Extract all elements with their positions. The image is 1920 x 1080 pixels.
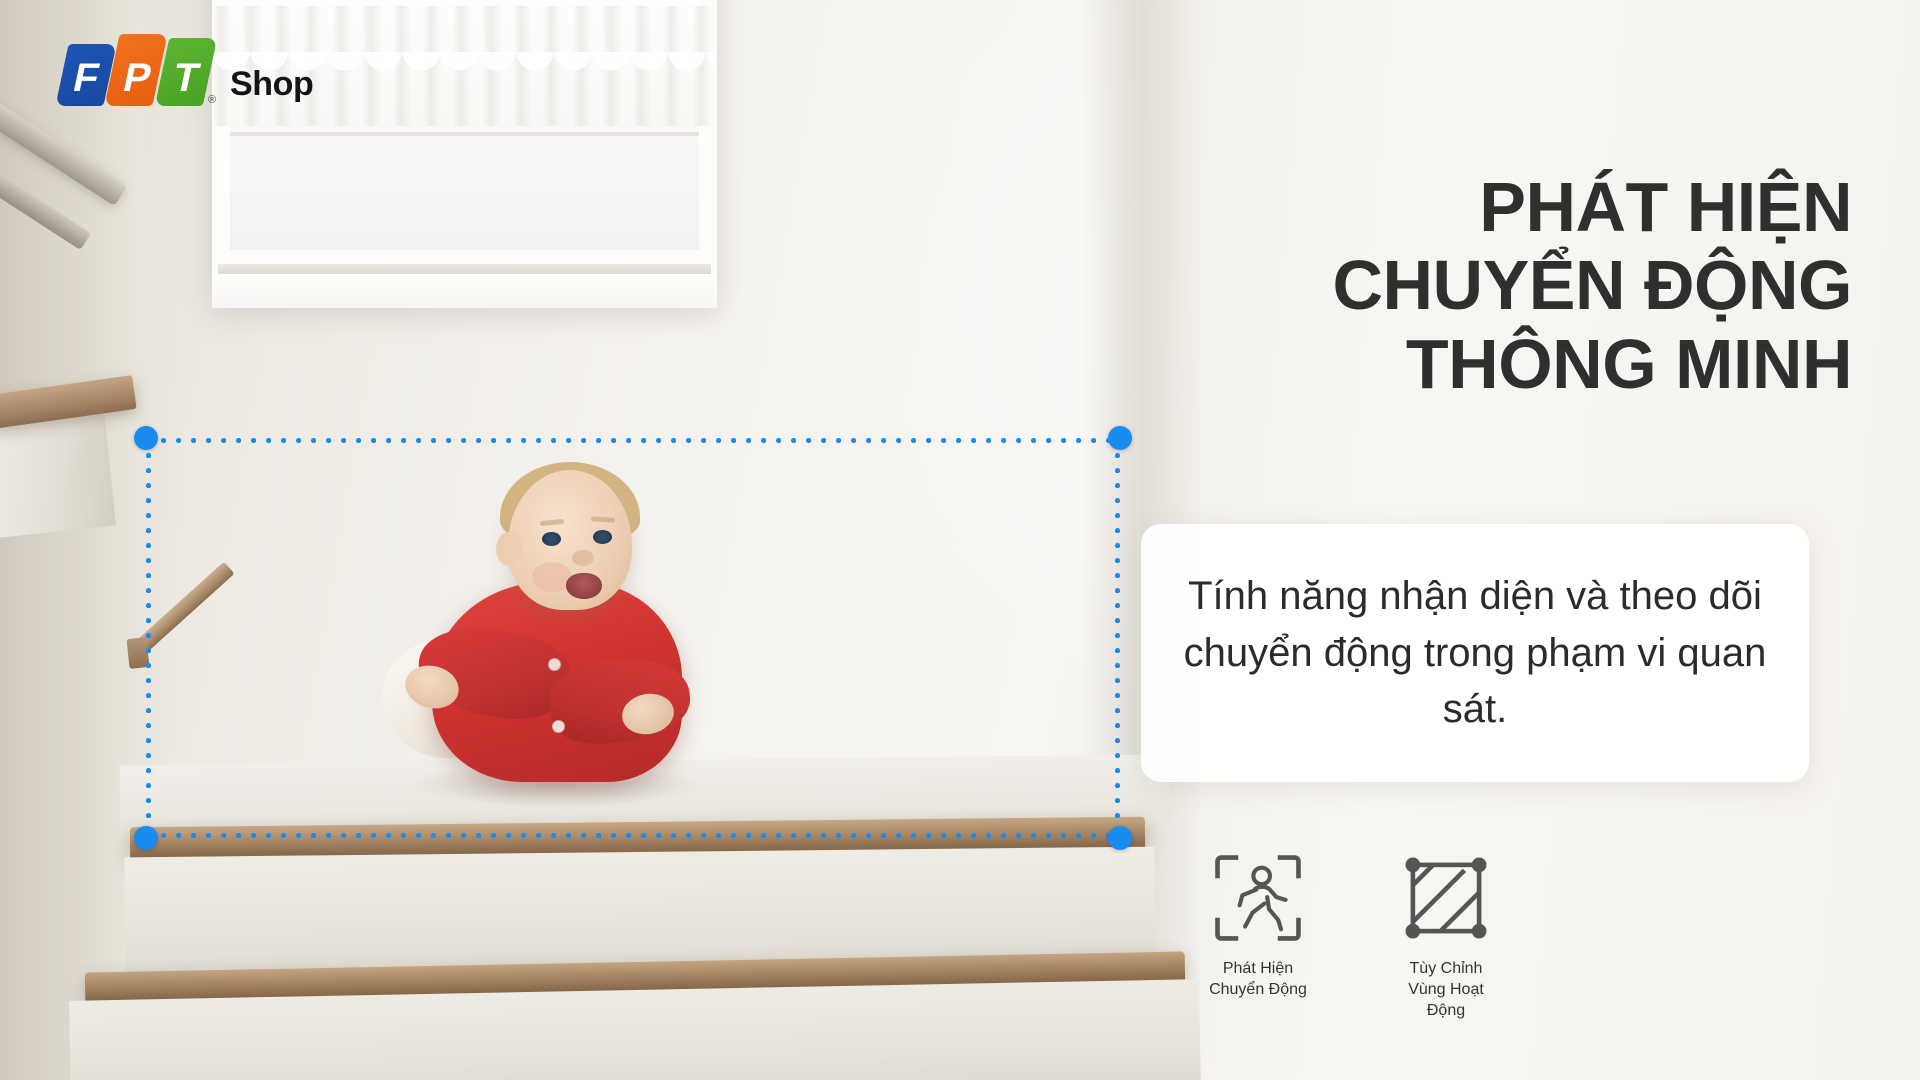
selection-edge-top	[146, 438, 1120, 443]
feature-motion-detection[interactable]: Phát Hiện Chuyển Động	[1198, 852, 1318, 1000]
registered-trademark-icon: ®	[208, 94, 216, 106]
feature-custom-zone-label: Tùy Chỉnh Vùng Hoạt Động	[1386, 958, 1506, 1021]
custom-zone-icon	[1400, 852, 1492, 944]
selection-edge-left	[146, 438, 151, 838]
newel-post-side	[0, 406, 116, 538]
motion-detection-icon	[1212, 852, 1304, 944]
feature-motion-detection-label: Phát Hiện Chuyển Động	[1198, 958, 1318, 1000]
window-sill	[218, 264, 711, 274]
selection-handle-bottom-right[interactable]	[1108, 826, 1132, 850]
headline-line-2: CHUYỂN ĐỘNG	[1112, 246, 1852, 324]
fpt-logo-marks: F P T ®	[62, 44, 212, 106]
selection-edge-right	[1115, 438, 1120, 838]
selection-handle-top-left[interactable]	[134, 426, 158, 450]
window-lower-panel	[212, 274, 717, 308]
promo-banner: F P T ® Shop PHÁT HIỆN CHUYỂN ĐỘNG THÔNG…	[0, 0, 1920, 1080]
selection-handle-top-right[interactable]	[1108, 426, 1132, 450]
feature-label-line-1: Tùy Chỉnh	[1386, 958, 1506, 979]
description-text: Tính năng nhận diện và theo dõi chuyển đ…	[1141, 568, 1809, 738]
logo-shop-word: Shop	[230, 67, 313, 106]
feature-label-line-2: Chuyển Động	[1198, 979, 1318, 1000]
selection-edge-bottom	[146, 833, 1120, 838]
description-card: Tính năng nhận diện và theo dõi chuyển đ…	[1141, 524, 1809, 782]
headline-line-1: PHÁT HIỆN	[1112, 168, 1852, 246]
motion-detection-zone-selection[interactable]	[146, 438, 1120, 838]
window-mullion	[230, 132, 699, 136]
feature-list: Phát Hiện Chuyển Động	[1198, 852, 1506, 1021]
selection-handle-bottom-left[interactable]	[134, 826, 158, 850]
fpt-shop-logo[interactable]: F P T ® Shop	[62, 44, 313, 106]
page-title: PHÁT HIỆN CHUYỂN ĐỘNG THÔNG MINH	[1112, 168, 1852, 403]
feature-label-line-3: Động	[1386, 1000, 1506, 1021]
feature-custom-zone[interactable]: Tùy Chỉnh Vùng Hoạt Động	[1386, 852, 1506, 1021]
feature-label-line-2: Vùng Hoạt	[1386, 979, 1506, 1000]
headline-line-3: THÔNG MINH	[1112, 325, 1852, 403]
feature-label-line-1: Phát Hiện	[1198, 958, 1318, 979]
